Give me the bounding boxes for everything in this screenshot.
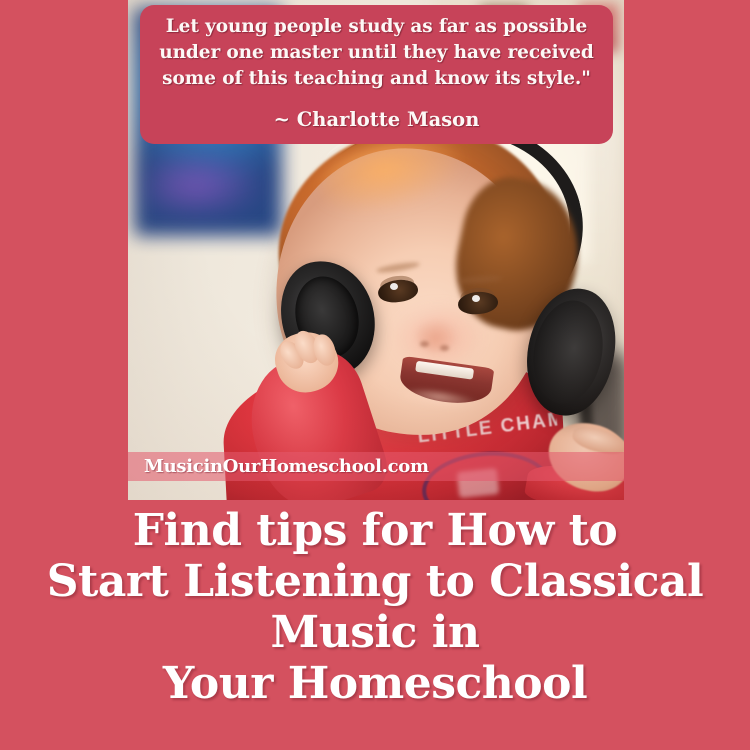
headline-line-4: Your Homeschool [0, 658, 750, 709]
headline-line-3: Music in [0, 607, 750, 658]
quote-text: Let young people study as far as possibl… [152, 14, 601, 92]
headline-line-1: Find tips for How to [0, 505, 750, 556]
tv-glow [148, 150, 268, 220]
nostril-left [420, 341, 429, 347]
eye-right-glint [472, 295, 480, 302]
watermark-text: MusicinOurHomeschool.com [128, 456, 429, 477]
nostril-right [440, 345, 449, 351]
quote-attribution: ~ Charlotte Mason [152, 108, 601, 131]
watermark-band: MusicinOurHomeschool.com [128, 452, 624, 481]
headline-block: Find tips for How to Start Listening to … [0, 505, 750, 709]
teeth [415, 361, 474, 380]
pinterest-graphic: LITTLE CHAMP [0, 0, 750, 750]
headline-line-2: Start Listening to Classical [0, 556, 750, 607]
quote-card: Let young people study as far as possibl… [140, 5, 613, 144]
eye-left-glint [390, 283, 398, 290]
